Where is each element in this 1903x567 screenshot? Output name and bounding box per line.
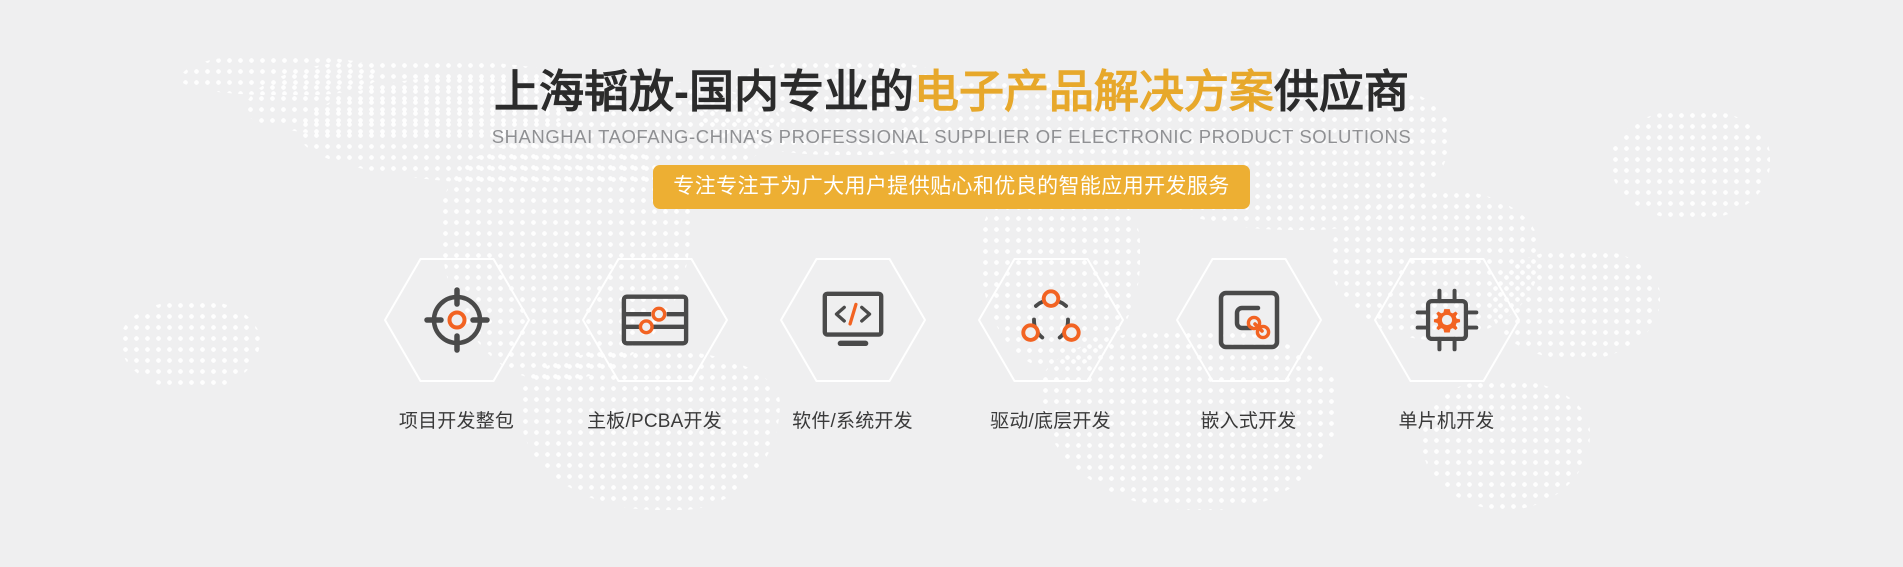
crosshair-target-icon xyxy=(422,285,492,355)
service-item-mcu[interactable]: 单片机开发 xyxy=(1366,258,1528,433)
service-item-embedded[interactable]: 嵌入式开发 xyxy=(1168,258,1330,433)
circuit-board-icon xyxy=(620,285,690,355)
banner-heading-group: 上海韬放-国内专业的电子产品解决方案供应商 SHANGHAI TAOFANG-C… xyxy=(0,68,1903,209)
service-label: 软件/系统开发 xyxy=(792,406,913,433)
service-label: 驱动/底层开发 xyxy=(990,406,1111,433)
tagline-container: 专注专注于为广大用户提供贴心和优良的智能应用开发服务 xyxy=(0,165,1903,209)
page-title: 上海韬放-国内专业的电子产品解决方案供应商 xyxy=(0,68,1903,115)
hexagon-frame xyxy=(1374,258,1520,382)
title-lead-text: 上海韬放-国内专业的 xyxy=(494,66,914,117)
mcu-gear-icon xyxy=(1412,285,1482,355)
title-highlight-text: 电子产品解决方案 xyxy=(914,66,1274,117)
page-subtitle: SHANGHAI TAOFANG-CHINA'S PROFESSIONAL SU… xyxy=(0,126,1903,148)
network-nodes-icon xyxy=(1016,285,1086,355)
tagline-badge: 专注专注于为广大用户提供贴心和优良的智能应用开发服务 xyxy=(653,165,1249,209)
title-tail-text: 供应商 xyxy=(1274,66,1409,117)
hexagon-frame xyxy=(780,258,926,382)
service-label: 项目开发整包 xyxy=(399,406,514,433)
service-label: 嵌入式开发 xyxy=(1200,406,1296,433)
service-list: 项目开发整包 xyxy=(0,258,1903,433)
hexagon-frame xyxy=(384,258,530,382)
monitor-code-icon xyxy=(818,285,888,355)
hero-banner: 上海韬放-国内专业的电子产品解决方案供应商 SHANGHAI TAOFANG-C… xyxy=(0,0,1903,567)
service-label: 主板/PCBA开发 xyxy=(587,406,722,433)
service-item-driver[interactable]: 驱动/底层开发 xyxy=(970,258,1132,433)
hexagon-frame xyxy=(1176,258,1322,382)
hexagon-frame xyxy=(582,258,728,382)
service-item-software[interactable]: 软件/系统开发 xyxy=(772,258,934,433)
service-label: 单片机开发 xyxy=(1398,406,1494,433)
service-item-project-package[interactable]: 项目开发整包 xyxy=(376,258,538,433)
embedded-chip-link-icon xyxy=(1214,285,1284,355)
hexagon-frame xyxy=(978,258,1124,382)
service-item-pcba[interactable]: 主板/PCBA开发 xyxy=(574,258,736,433)
